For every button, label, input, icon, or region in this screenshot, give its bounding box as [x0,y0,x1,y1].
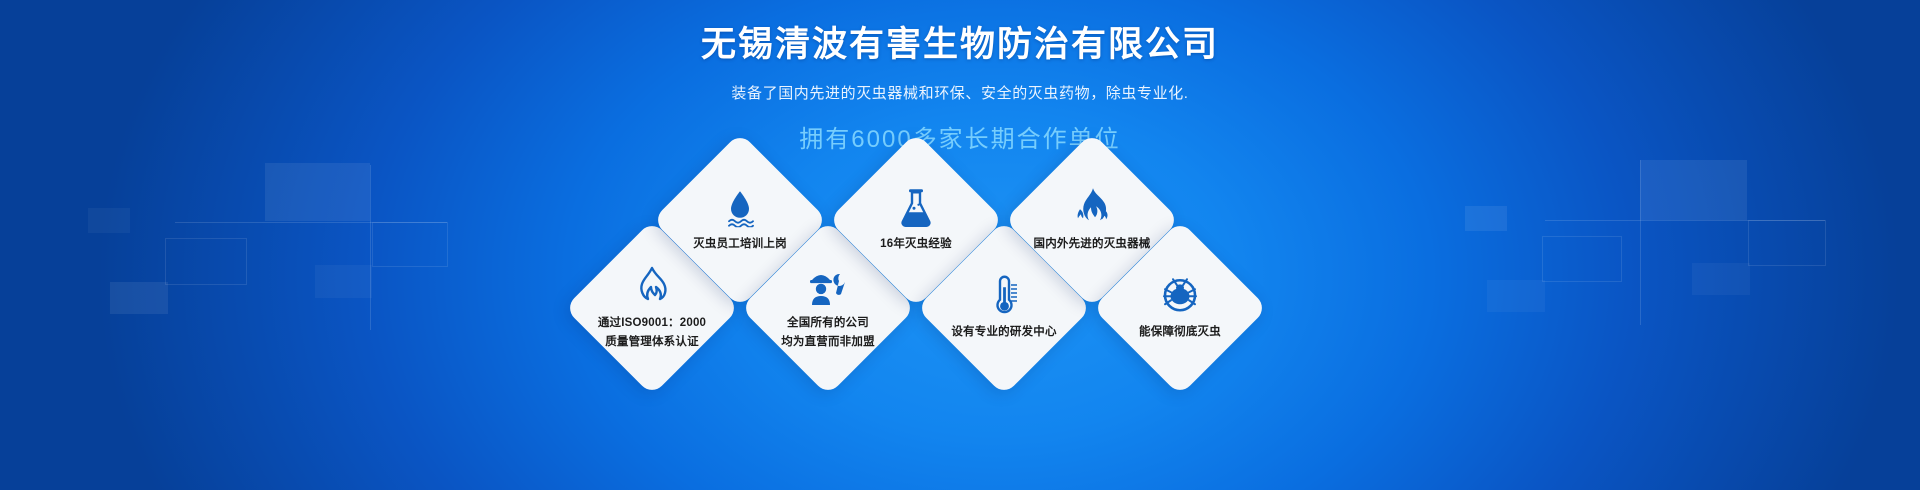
badge-caption: 设有专业的研发中心 [951,326,1056,338]
deco-rect-right-3 [1542,236,1622,282]
flame-solid-icon [1017,187,1167,227]
headline-block: 无锡清波有害生物防治有限公司 装备了国内先进的灭虫器械和环保、安全的灭虫药物，除… [0,24,1920,154]
promo-banner: 无锡清波有害生物防治有限公司 装备了国内先进的灭虫器械和环保、安全的灭虫药物，除… [0,0,1920,490]
deco-rect-left-2 [110,282,168,314]
deco-hairline-left-v [370,165,371,330]
deco-hairline-left-h [175,222,447,223]
deco-rect-left-5 [315,265,372,298]
badge-caption: 16年灭虫经验 [880,238,952,250]
badge-caption: 通过ISO9001：2000 质量管理体系认证 [598,317,706,348]
deco-hairline-right-v [1640,160,1641,325]
badge-caption: 能保障彻底灭虫 [1139,326,1221,338]
deco-rect-left-4 [265,163,370,221]
badge-grid: 通过ISO9001：2000 质量管理体系认证 灭虫员工培训上岗 [590,146,1330,476]
water-drop-icon [665,187,815,227]
deco-rect-left-3 [165,238,247,285]
deco-rect-right-2 [1487,280,1545,312]
deco-rect-left-6 [372,222,448,267]
badge-caption: 国内外先进的灭虫器械 [1034,238,1151,250]
pest-prohibited-icon [1105,275,1255,315]
deco-rect-right-5 [1692,263,1750,295]
thermometer-icon [929,275,1079,315]
deco-hairline-right-h [1545,220,1825,221]
flask-icon [841,187,991,227]
page-title: 无锡清波有害生物防治有限公司 [0,24,1920,66]
page-subtitle: 装备了国内先进的灭虫器械和环保、安全的灭虫药物，除虫专业化. [0,82,1920,103]
badge-caption: 全国所有的公司 均为直营而非加盟 [781,317,875,348]
deco-rect-left-1 [88,208,130,233]
deco-rect-right-1 [1465,206,1507,231]
deco-rect-right-4 [1640,160,1747,220]
deco-rect-right-6 [1748,220,1826,266]
badge-caption: 灭虫员工培训上岗 [693,238,787,250]
